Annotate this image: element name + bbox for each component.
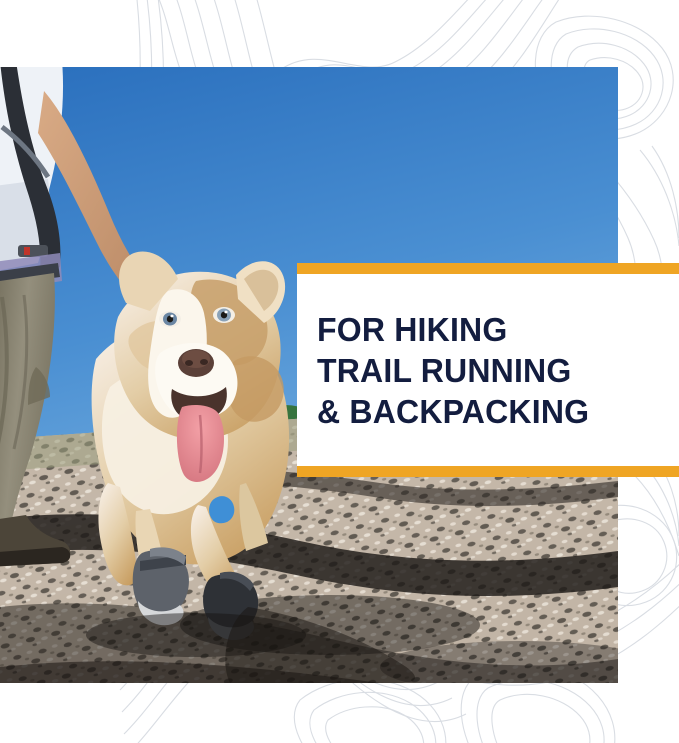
- headline-line-1: FOR HIKING: [317, 309, 658, 350]
- poster-stage: FOR HIKING TRAIL RUNNING & BACKPACKING: [0, 0, 679, 743]
- headline-line-2: TRAIL RUNNING: [317, 350, 658, 391]
- dog-tag: [209, 496, 234, 523]
- callout-body: FOR HIKING TRAIL RUNNING & BACKPACKING: [297, 274, 679, 466]
- accent-bar-top: [297, 263, 679, 274]
- accent-bar-bottom: [297, 466, 679, 477]
- headline-line-3: & BACKPACKING: [317, 391, 658, 432]
- callout-panel: FOR HIKING TRAIL RUNNING & BACKPACKING: [297, 263, 679, 477]
